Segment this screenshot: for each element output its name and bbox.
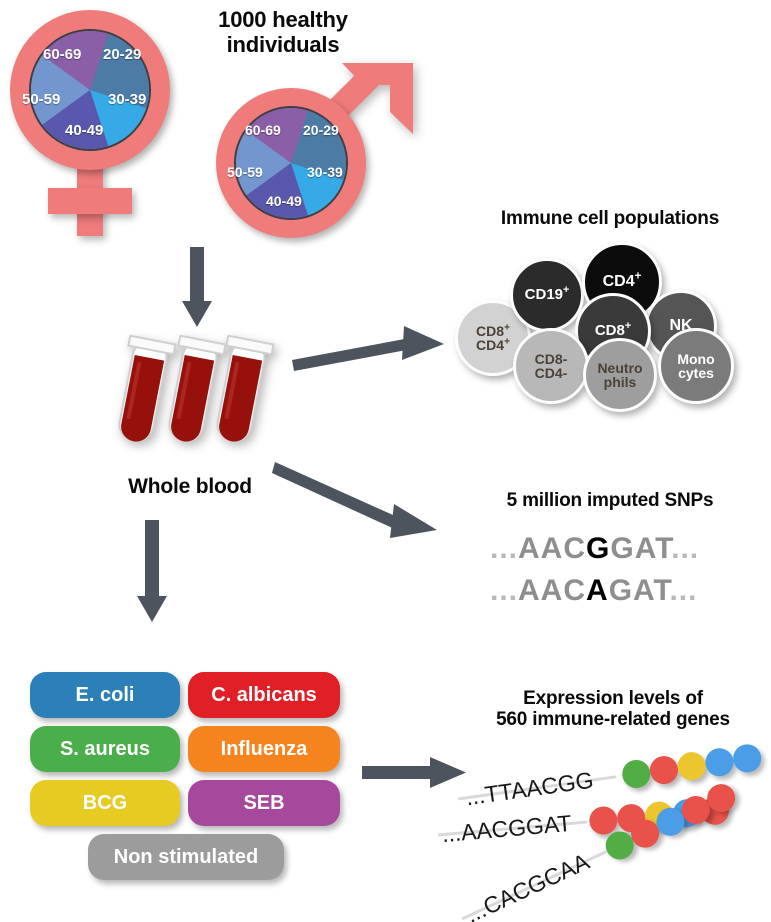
arrow-blood-to-immune-svg	[292, 322, 452, 372]
expression-title-line1: Expression levels of	[458, 688, 768, 709]
snp-prefix: ...	[490, 574, 518, 607]
whole-blood-label: Whole blood	[85, 475, 295, 499]
snp-sequences: ...AACGGAT... ...AACAGAT...	[480, 530, 750, 620]
strand-bead	[731, 743, 763, 775]
immune-cell-label: Monocytes	[677, 352, 714, 381]
expression-title-line2: 560 immune-related genes	[458, 709, 768, 730]
snp-highlight: A	[586, 574, 609, 607]
male-pie-label-50-59: 50-59	[227, 164, 263, 180]
immune-cell-label: CD4+	[603, 274, 642, 290]
immune-cell-cd19plus: CD19+	[510, 258, 584, 332]
arrow-shaft	[190, 247, 204, 305]
strand-bead	[620, 758, 652, 790]
arrow-head	[182, 301, 212, 327]
immune-cell-label: Neutrophils	[597, 361, 642, 390]
expression-strands: ...TTAACGG ...AACGGAT ...CACGCAA	[440, 740, 771, 920]
cohort-title-line2: individuals	[178, 33, 388, 58]
strand-bead	[648, 754, 680, 786]
stimulus-label: C. albicans	[211, 684, 317, 707]
snp-suffix: ...	[671, 532, 699, 565]
arrow-cohort-to-blood	[178, 247, 218, 331]
female-pie-label-60-69: 60-69	[43, 46, 81, 63]
arrow-blood-to-stimuli	[133, 520, 173, 630]
immune-cell-label: CD8+	[595, 323, 631, 338]
snp-title: 5 million imputed SNPs	[460, 490, 760, 511]
strand-bead	[676, 750, 708, 782]
stimulus-c-albicans[interactable]: C. albicans	[188, 672, 340, 718]
stimulus-bcg[interactable]: BCG	[30, 780, 180, 826]
expression-title: Expression levels of 560 immune-related …	[458, 688, 768, 731]
stimulus-s-aureus[interactable]: S. aureus	[30, 726, 180, 772]
immune-cell-cluster: CD8+CD4+ CD19+ CD4+ NK CD8+ CD8-CD4- Neu…	[455, 240, 755, 420]
snp-row: ...AACAGAT...	[490, 574, 697, 608]
male-pie-label-20-29: 20-29	[303, 122, 339, 138]
immune-title: Immune cell populations	[455, 208, 765, 229]
female-gender-symbol: 20-29 30-39 40-49 50-59 60-69	[10, 10, 200, 240]
snp-pre: AAC	[518, 532, 586, 565]
snp-post: GAT	[609, 574, 670, 607]
immune-cell-label: CD8-CD4-	[535, 352, 568, 381]
arrow-blood-to-snp-svg	[272, 438, 452, 543]
immune-cell-monocytes: Monocytes	[658, 328, 734, 404]
snp-row: ...AACGGAT...	[490, 532, 699, 566]
arrow-blood-to-snp	[272, 438, 452, 543]
stimulus-label: Influenza	[221, 738, 308, 761]
stimulus-seb[interactable]: SEB	[188, 780, 340, 826]
snp-prefix: ...	[490, 532, 518, 565]
stimulus-label: E. coli	[76, 684, 135, 707]
immune-cell-label: CD8+CD4+	[476, 324, 510, 353]
stimulus-label: Non stimulated	[114, 846, 258, 869]
stimulus-non-stimulated[interactable]: Non stimulated	[88, 834, 284, 880]
female-pie-label-20-29: 20-29	[103, 46, 141, 63]
immune-cell-cd8minus-cd4minus: CD8-CD4-	[513, 328, 589, 404]
stimulus-label: S. aureus	[60, 738, 150, 761]
stimulus-label: SEB	[243, 792, 284, 815]
arrow-shaft	[145, 520, 159, 600]
snp-highlight: G	[586, 532, 610, 565]
cohort-title-line1: 1000 healthy	[178, 8, 388, 33]
arrow-blood-to-immune	[292, 322, 452, 372]
stimulus-label: BCG	[83, 792, 127, 815]
immune-cell-neutrophils: Neutrophils	[583, 338, 657, 412]
whole-blood-tubes	[100, 335, 280, 445]
strand-sequence: ...CACGCAA	[462, 848, 594, 922]
strand-sequence: ...AACGGAT	[441, 810, 573, 848]
immune-cell-label: CD19+	[525, 287, 570, 302]
stimulus-influenza[interactable]: Influenza	[188, 726, 340, 772]
arrow-head	[137, 596, 167, 622]
strand-sequence: ...TTAACGG	[464, 767, 595, 812]
blood-tubes-svg	[100, 335, 280, 447]
snp-pre: AAC	[518, 574, 586, 607]
female-pie-label-40-49: 40-49	[65, 122, 103, 139]
strand-bead	[704, 746, 736, 778]
cohort-title: 1000 healthy individuals	[178, 8, 388, 57]
figure-canvas: 1000 healthy individuals 20-29 30-39 40-…	[0, 0, 771, 922]
stimuli-panel: E. coli C. albicans S. aureus Influenza …	[30, 672, 350, 892]
female-pie-label-30-39: 30-39	[108, 91, 146, 108]
snp-post: GAT	[610, 532, 671, 565]
male-gender-symbol: 20-29 30-39 40-49 50-59 60-69	[210, 60, 420, 240]
snp-suffix: ...	[669, 574, 697, 607]
female-symbol-crossbar	[48, 188, 132, 214]
female-pie-label-50-59: 50-59	[22, 91, 60, 108]
stimulus-e-coli[interactable]: E. coli	[30, 672, 180, 718]
male-pie-label-40-49: 40-49	[266, 193, 302, 209]
male-pie-label-60-69: 60-69	[245, 122, 281, 138]
male-pie-label-30-39: 30-39	[307, 164, 343, 180]
